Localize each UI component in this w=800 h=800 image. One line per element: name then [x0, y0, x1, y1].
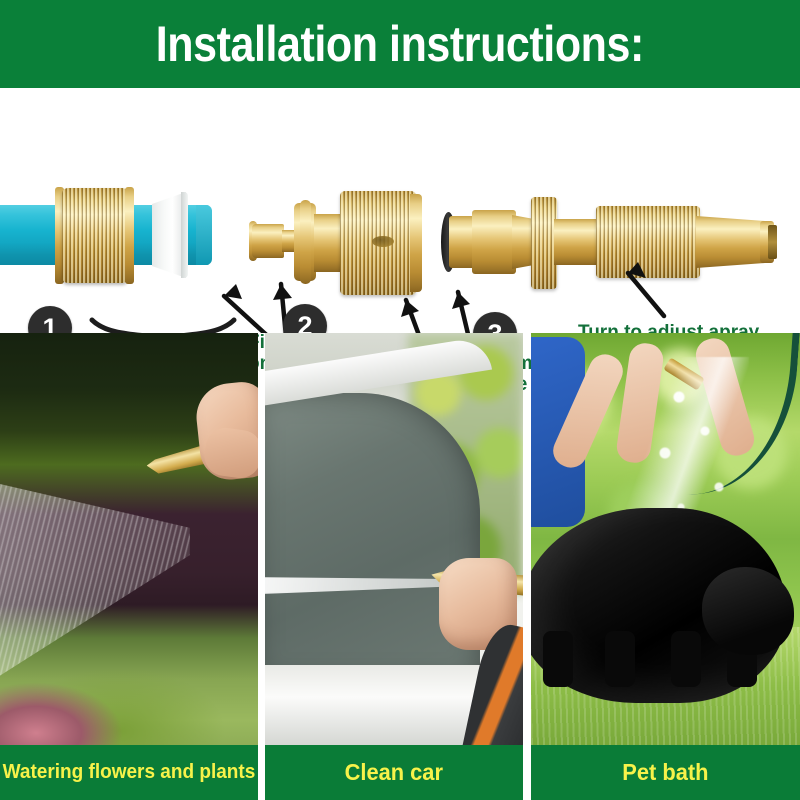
connector-flange-inner [300, 200, 311, 284]
arrow-to-quick-connect-icon [452, 292, 470, 333]
quick-connect-body [472, 210, 516, 274]
panel-caption-2: Clean car [345, 761, 443, 784]
use-case-panel-pet-bath: Pet bath [531, 333, 800, 800]
use-case-panel-watering: Watering flowers and plants [0, 333, 258, 800]
use-case-panel-clean-car: Clean car [265, 333, 523, 800]
panel-caption-bar-3: Pet bath [531, 745, 800, 800]
dog-leg [605, 631, 635, 687]
dog-head [702, 567, 794, 655]
nozzle-stem [554, 219, 602, 265]
panel-caption-bar-2: Clean car [265, 745, 523, 800]
hose-cut-end [196, 205, 212, 265]
photo-watering-flowers [0, 333, 258, 745]
nozzle-adjust-grip [596, 206, 700, 278]
car-body-panel [265, 665, 485, 745]
connector-collar-dent [372, 236, 394, 247]
photo-pet-bath [531, 333, 800, 745]
brass-hose-nut [62, 188, 128, 283]
connector-barb-tip [252, 224, 284, 258]
arrow-to-ferrule-icon [224, 284, 272, 333]
nozzle-barrel [696, 216, 768, 268]
assembly-diagram: 1 2 3 Insert these on 1/2 pipe. Fit pipe… [0, 88, 800, 333]
product-infographic: Installation instructions: [0, 0, 800, 800]
use-case-panels: Watering flowers and plants Clean car [0, 333, 800, 800]
connector-end-cap [410, 194, 422, 292]
nozzle-mouth [768, 225, 777, 259]
panel-caption-1: Watering flowers and plants [3, 761, 256, 784]
panel-caption-3: Pet bath [622, 761, 708, 784]
header-banner: Installation instructions: [0, 0, 800, 88]
photo-clean-car [265, 333, 523, 745]
brace-icon [92, 320, 234, 333]
ferrule-rim [181, 192, 188, 278]
dog-leg [543, 631, 573, 687]
dog-leg [671, 631, 701, 687]
hose-nut-right-lip [125, 187, 134, 284]
panel-caption-bar-1: Watering flowers and plants [0, 745, 258, 800]
page-title: Installation instructions: [156, 19, 644, 69]
arrow-to-slide-collar-icon [401, 300, 420, 333]
